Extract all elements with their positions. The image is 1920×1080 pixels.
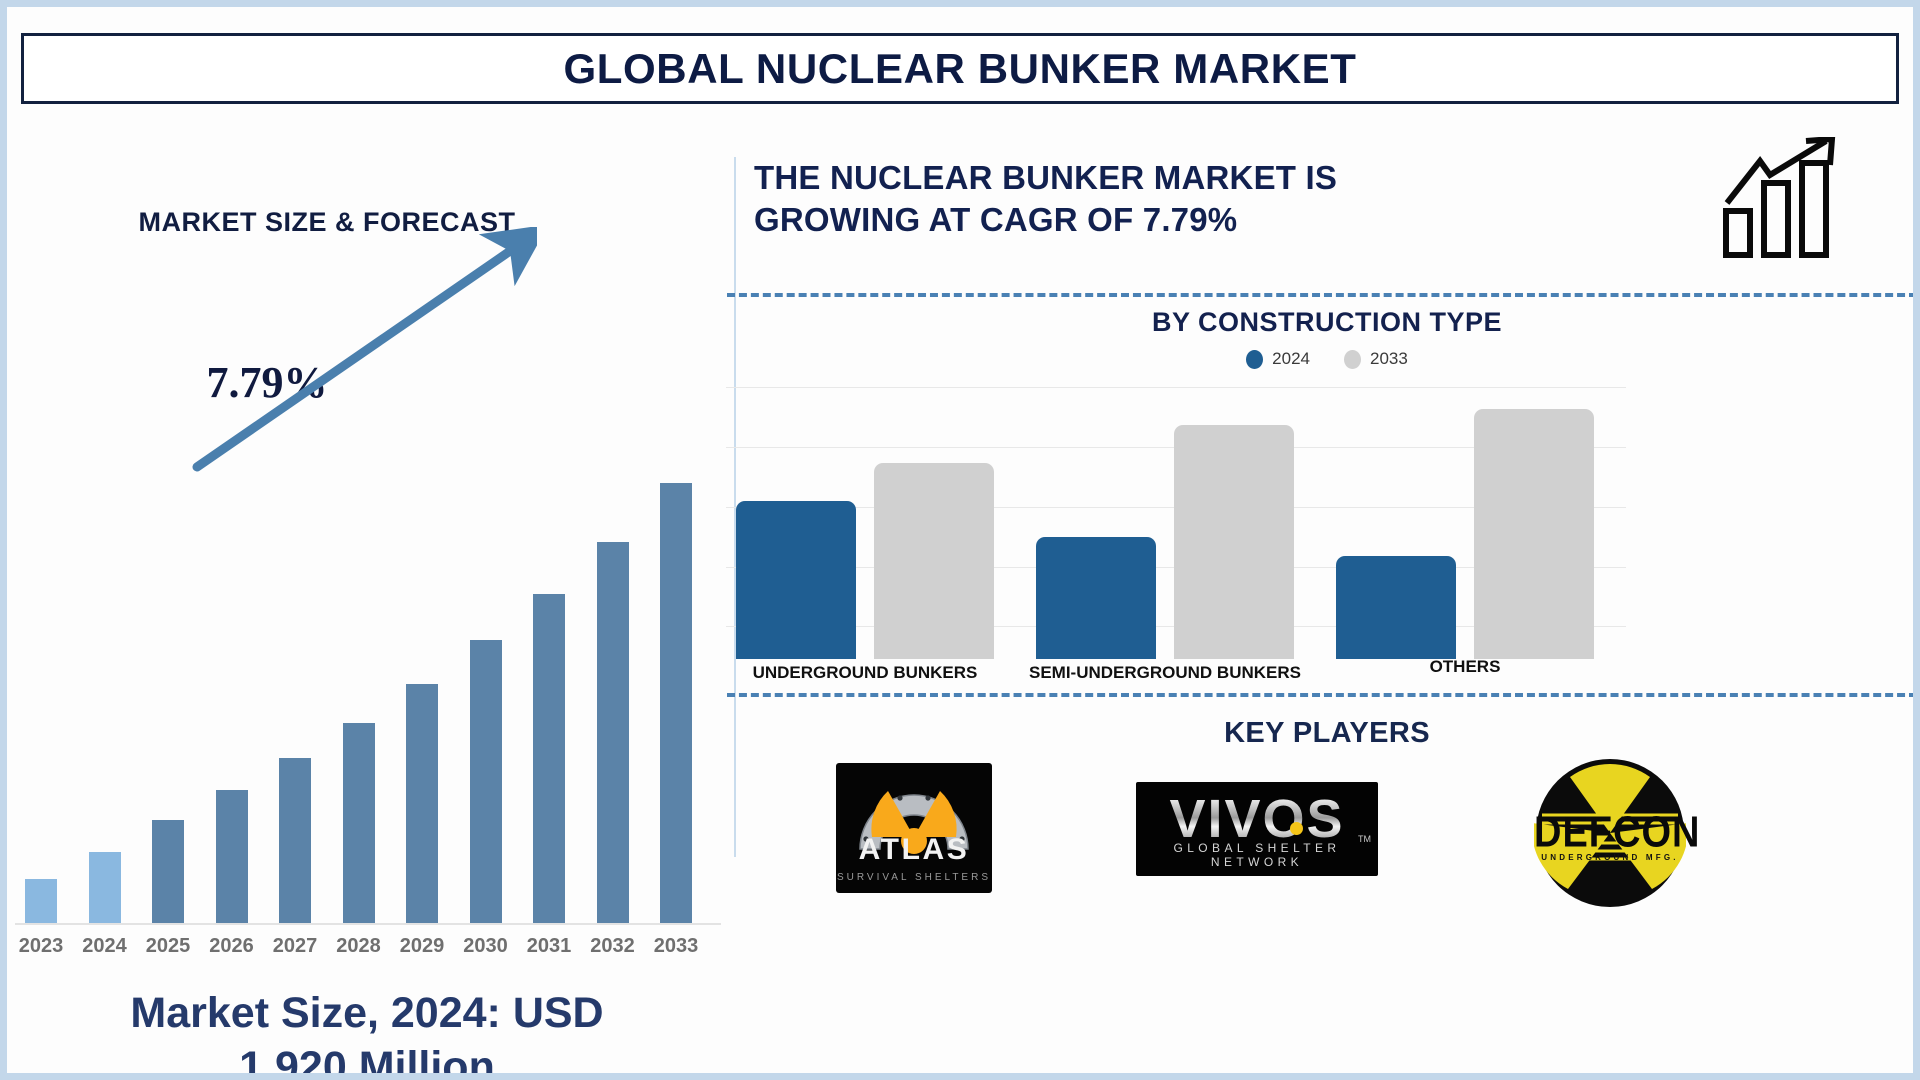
logo-vivos: VIVOS TM GLOBAL SHELTER NETWORK	[1136, 782, 1378, 876]
gridline	[726, 387, 1626, 388]
bar-semi-underground-bunkers-2024	[1036, 537, 1156, 659]
category-axis-labels: UNDERGROUND BUNKERSSEMI-UNDERGROUND BUNK…	[726, 663, 1626, 703]
defcon-tagline: UNDERGROUND MFG.	[1534, 853, 1686, 862]
key-players-logos: ATLAS SURVIVAL SHELTERS VIVOS TM GLOBAL …	[734, 757, 1920, 937]
cagr-headline: THE NUCLEAR BUNKER MARKET IS GROWING AT …	[754, 157, 1514, 241]
atlas-logo-box: ATLAS SURVIVAL SHELTERS	[836, 763, 992, 893]
year-label-2029: 2029	[390, 935, 454, 958]
legend-item-2033[interactable]: 2033	[1344, 349, 1408, 369]
market-size-bar	[470, 467, 502, 923]
page-title: GLOBAL NUCLEAR BUNKER MARKET	[564, 45, 1357, 93]
headline-line-1: THE NUCLEAR BUNKER MARKET IS	[754, 157, 1514, 199]
bar-2031	[533, 594, 565, 923]
legend-label: 2024	[1272, 349, 1310, 369]
bar-2033	[660, 483, 692, 923]
left-panel: MARKET SIZE & FORECAST 7.79% 20232024202…	[7, 117, 734, 1077]
year-label-2032: 2032	[581, 935, 645, 958]
bar-semi-underground-bunkers-2033	[1174, 425, 1294, 659]
year-axis-labels: 2023202420252026202720282029203020312032…	[7, 935, 734, 969]
bar-2024	[89, 852, 121, 923]
year-label-2025: 2025	[136, 935, 200, 958]
category-label-semi-underground-bunkers: SEMI-UNDERGROUND BUNKERS	[1006, 663, 1324, 683]
caption-line-2: 1,920 Million	[17, 1041, 717, 1080]
year-label-2033: 2033	[644, 935, 708, 958]
legend-dot-icon	[1344, 350, 1361, 369]
year-label-2031: 2031	[517, 935, 581, 958]
bar-2025	[152, 820, 184, 923]
bar-2026	[216, 790, 248, 923]
vivos-tagline: GLOBAL SHELTER NETWORK	[1136, 841, 1378, 869]
bar-2023	[25, 879, 57, 923]
key-players-title: KEY PLAYERS	[734, 717, 1920, 750]
bar-2029	[406, 684, 438, 923]
market-size-caption: Market Size, 2024: USD 1,920 Million	[17, 987, 717, 1080]
vivos-dot-icon	[1290, 822, 1303, 835]
year-label-2024: 2024	[73, 935, 137, 958]
bar-2030	[470, 640, 502, 923]
infographic-page: GLOBAL NUCLEAR BUNKER MARKET MARKET SIZE…	[0, 0, 1920, 1080]
bar-underground-bunkers-2024	[736, 501, 856, 659]
atlas-tagline: SURVIVAL SHELTERS	[836, 872, 992, 883]
legend-dot-icon	[1246, 350, 1263, 369]
market-size-bar	[597, 467, 629, 923]
bar-2028	[343, 723, 375, 923]
market-size-bar-chart	[15, 467, 725, 923]
vivos-logo-box: VIVOS TM GLOBAL SHELTER NETWORK	[1136, 782, 1378, 876]
defcon-wordmark: DEFCON	[1534, 809, 1686, 858]
section-title-construction-type: BY CONSTRUCTION TYPE	[734, 307, 1920, 338]
atlas-wordmark: ATLAS	[836, 833, 992, 867]
market-size-bar	[25, 467, 57, 923]
year-label-2027: 2027	[263, 935, 327, 958]
growth-arrow-icon	[187, 227, 537, 477]
year-label-2023: 2023	[9, 935, 73, 958]
bar-others-2024	[1336, 556, 1456, 659]
legend-item-2024[interactable]: 2024	[1246, 349, 1310, 369]
construction-type-bar-chart	[726, 387, 1626, 659]
market-size-bar	[216, 467, 248, 923]
market-size-bar	[152, 467, 184, 923]
headline-line-2: GROWING AT CAGR OF 7.79%	[754, 199, 1514, 241]
defcon-logo-box: DEFCON UNDERGROUND MFG.	[1534, 757, 1686, 909]
chart-baseline	[15, 923, 721, 925]
year-label-2026: 2026	[200, 935, 264, 958]
dashed-divider-top	[727, 293, 1917, 297]
market-size-bar	[533, 467, 565, 923]
market-size-bar	[89, 467, 121, 923]
legend-label: 2033	[1370, 349, 1408, 369]
bar-others-2033	[1474, 409, 1594, 659]
market-size-bar	[279, 467, 311, 923]
chart-legend: 20242033	[734, 349, 1920, 369]
market-size-bar	[343, 467, 375, 923]
market-size-bar	[406, 467, 438, 923]
logo-defcon: DEFCON UNDERGROUND MFG.	[1534, 757, 1686, 909]
bar-chart-growth-arrow-icon	[1722, 137, 1852, 262]
market-size-bar	[660, 467, 692, 923]
year-label-2030: 2030	[454, 935, 518, 958]
dashed-divider-bottom	[727, 693, 1917, 697]
caption-line-1: Market Size, 2024: USD	[17, 987, 717, 1041]
year-label-2028: 2028	[327, 935, 391, 958]
bar-2032	[597, 542, 629, 923]
title-box: GLOBAL NUCLEAR BUNKER MARKET	[21, 33, 1899, 104]
right-panel: THE NUCLEAR BUNKER MARKET IS GROWING AT …	[734, 117, 1920, 1077]
bar-2027	[279, 758, 311, 923]
category-label-underground-bunkers: UNDERGROUND BUNKERS	[706, 663, 1024, 683]
logo-atlas: ATLAS SURVIVAL SHELTERS	[836, 763, 992, 893]
bar-underground-bunkers-2033	[874, 463, 994, 659]
category-label-others: OTHERS	[1306, 657, 1624, 677]
